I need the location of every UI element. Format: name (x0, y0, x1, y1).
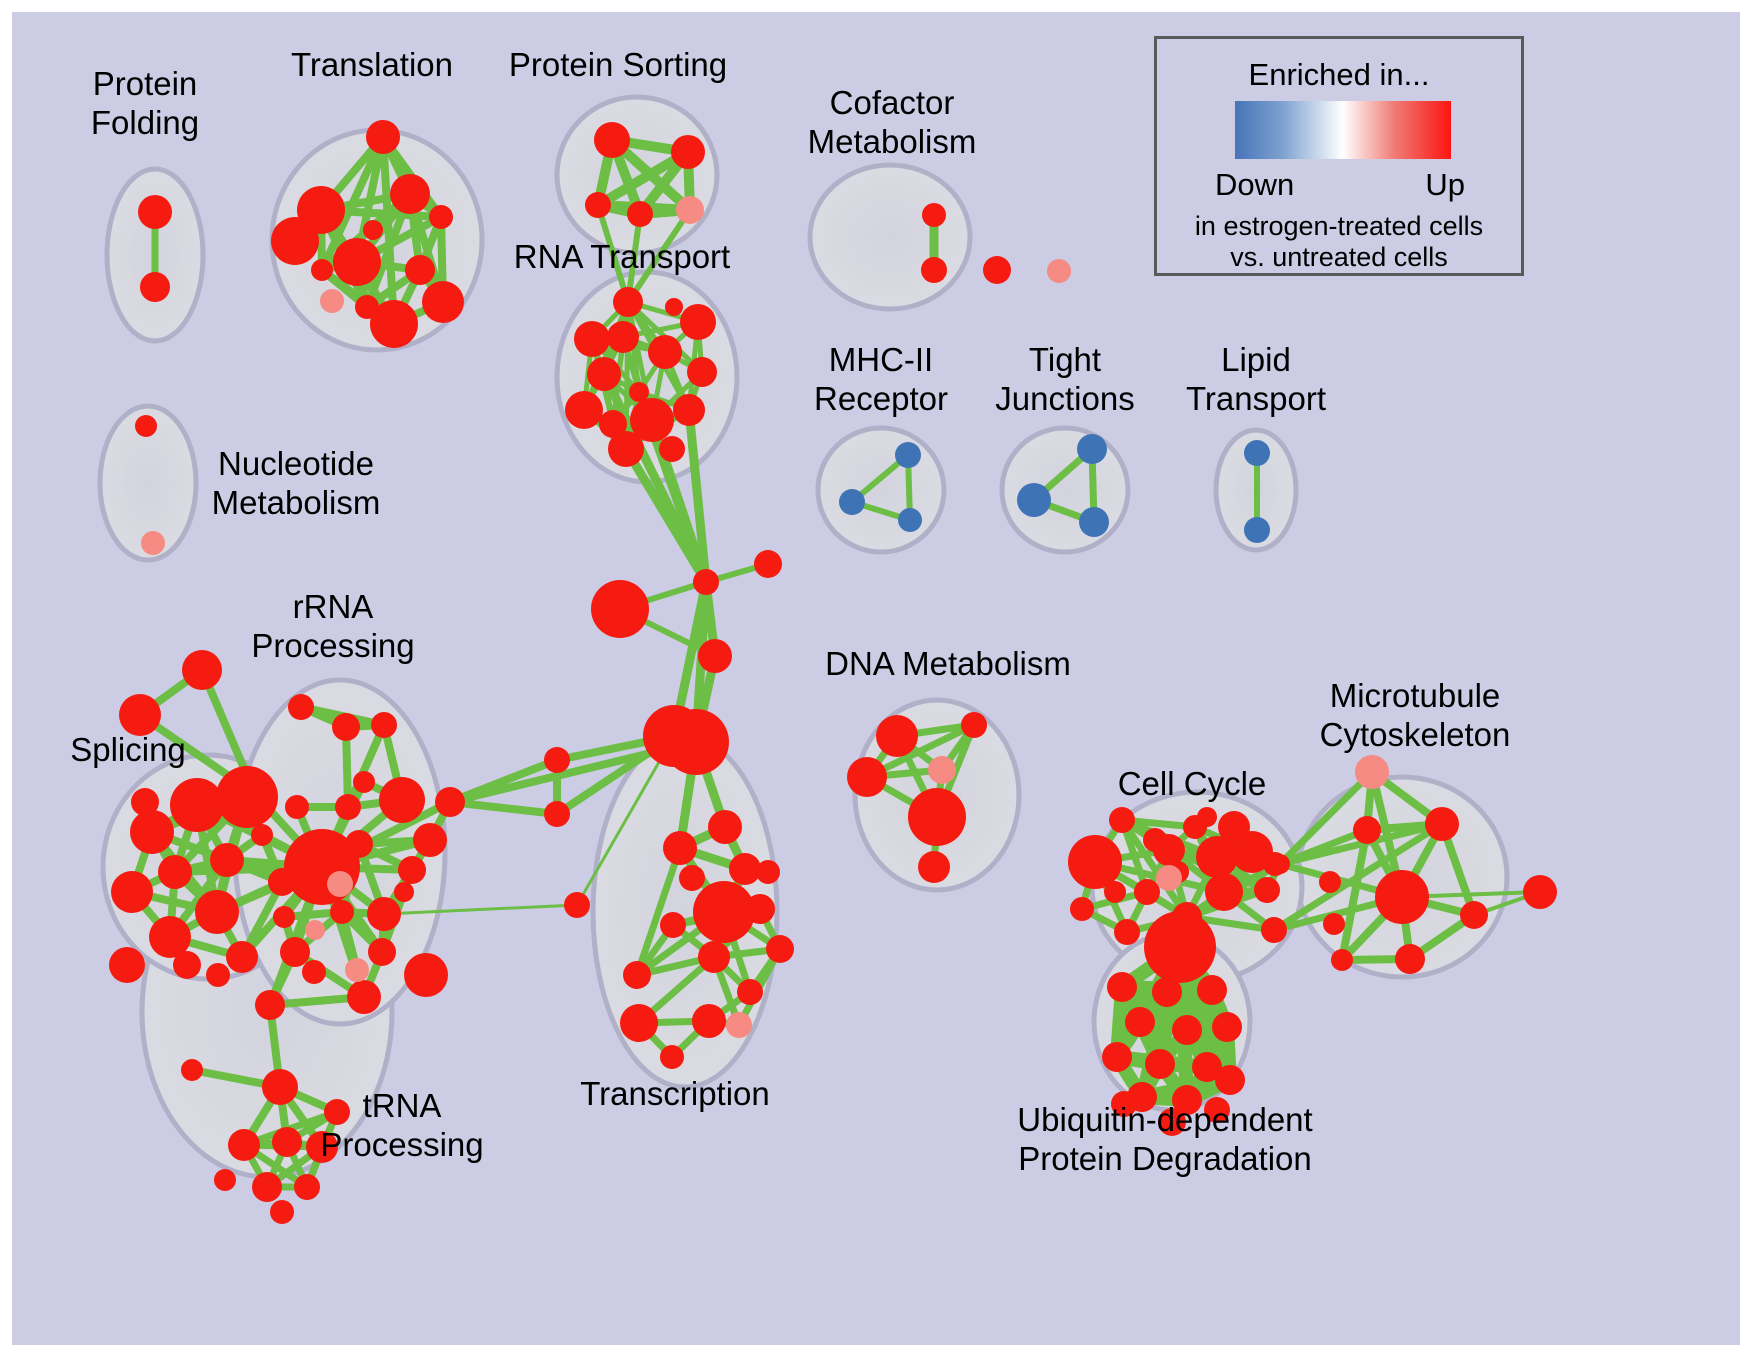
node (170, 778, 224, 832)
node (692, 1004, 726, 1038)
node (111, 871, 153, 913)
node (698, 639, 732, 673)
node (1134, 879, 1160, 905)
node (1197, 975, 1227, 1005)
legend-subtitle-line1: in estrogen-treated cells (1157, 211, 1521, 242)
node (285, 795, 309, 819)
node (687, 357, 717, 387)
node (368, 938, 396, 966)
node (1254, 877, 1280, 903)
node (627, 201, 653, 227)
node (1204, 1097, 1230, 1123)
node (839, 489, 865, 515)
node (404, 953, 448, 997)
node (320, 289, 344, 313)
node (607, 321, 639, 353)
node (1156, 865, 1182, 891)
node (1218, 811, 1250, 843)
node (367, 897, 401, 931)
node (1109, 807, 1135, 833)
node (1158, 1108, 1186, 1136)
node (130, 810, 174, 854)
node (1152, 977, 1182, 1007)
node (262, 1069, 298, 1105)
node (663, 709, 729, 775)
legend-title: Enriched in... (1157, 57, 1521, 93)
node (544, 747, 570, 773)
node (745, 894, 775, 924)
node (729, 853, 761, 885)
node (305, 920, 325, 940)
node (898, 508, 922, 532)
node (1017, 483, 1051, 517)
node (1395, 944, 1425, 974)
node (226, 941, 258, 973)
node (895, 442, 921, 468)
node (270, 1200, 294, 1224)
node (574, 321, 610, 357)
node (371, 712, 397, 738)
node (271, 217, 319, 265)
node (333, 238, 381, 286)
node (119, 694, 161, 736)
network-canvas: Protein Folding Translation Protein Sort… (12, 12, 1740, 1345)
node (332, 713, 360, 741)
node (921, 257, 947, 283)
node (1270, 854, 1290, 874)
node (138, 195, 172, 229)
node (363, 220, 383, 240)
node (1197, 807, 1217, 827)
node (370, 300, 418, 348)
node (302, 960, 326, 984)
legend-color-gradient-bar (1235, 101, 1451, 159)
node (324, 1099, 350, 1125)
node (1244, 517, 1270, 543)
node (961, 712, 987, 738)
node (620, 1004, 658, 1042)
node (345, 958, 369, 982)
node (680, 304, 716, 340)
node (665, 298, 683, 316)
node (394, 882, 414, 902)
node (1077, 434, 1107, 464)
node (608, 431, 644, 467)
node (1319, 871, 1341, 893)
node (181, 1059, 203, 1081)
node (1144, 911, 1216, 983)
node (335, 794, 361, 820)
node (660, 912, 686, 938)
node (756, 860, 780, 884)
node (210, 843, 244, 877)
node (214, 1169, 236, 1191)
node (294, 1174, 320, 1200)
node (587, 357, 621, 391)
node (544, 801, 570, 827)
node (347, 980, 381, 1014)
node (623, 961, 651, 989)
node (1102, 1042, 1132, 1072)
node (1212, 1012, 1242, 1042)
node (252, 1172, 282, 1202)
node (272, 1127, 302, 1157)
node (1070, 897, 1094, 921)
node (141, 531, 165, 555)
node (1104, 881, 1126, 903)
node (671, 135, 705, 169)
node (594, 122, 630, 158)
node (1172, 1015, 1202, 1045)
node (1355, 755, 1389, 789)
node (109, 947, 145, 983)
node (983, 256, 1011, 284)
node (330, 900, 354, 924)
node (195, 890, 239, 934)
node (366, 120, 400, 154)
node (182, 650, 222, 690)
node (1047, 259, 1071, 283)
node (345, 830, 373, 858)
node (228, 1129, 260, 1161)
node (280, 937, 310, 967)
node (908, 788, 966, 846)
node (353, 771, 375, 793)
node (876, 715, 918, 757)
node (1145, 1049, 1175, 1079)
node (422, 281, 464, 323)
node (1111, 1091, 1137, 1117)
node (585, 192, 611, 218)
node (726, 1012, 752, 1038)
node (918, 851, 950, 883)
node (922, 203, 946, 227)
node (663, 831, 697, 865)
node (565, 391, 603, 429)
node (1068, 835, 1122, 889)
bubble-mhc-ii-receptor (818, 428, 944, 552)
node (693, 569, 719, 595)
node (435, 787, 465, 817)
legend-up-label: Up (1425, 167, 1465, 203)
node (398, 856, 426, 884)
node (737, 979, 763, 1005)
node (173, 951, 201, 979)
node (413, 823, 447, 857)
node (591, 580, 649, 638)
node (766, 935, 794, 963)
node (1425, 807, 1459, 841)
legend-subtitle-line2: vs. untreated cells (1157, 242, 1521, 273)
node (273, 906, 295, 928)
node (140, 272, 170, 302)
node (648, 335, 682, 369)
node (1353, 816, 1381, 844)
node (390, 174, 430, 214)
legend-down-label: Down (1215, 167, 1294, 203)
node (1114, 919, 1140, 945)
legend-panel: Enriched in... Down Up in estrogen-treat… (1154, 36, 1524, 276)
bubble-cofactor-metabolism (810, 165, 970, 309)
node (1460, 901, 1488, 929)
figure-root: Protein Folding Translation Protein Sort… (0, 0, 1750, 1360)
node (613, 287, 643, 317)
node (1125, 1007, 1155, 1037)
node (311, 259, 333, 281)
node (379, 777, 425, 823)
node (679, 865, 705, 891)
node (1375, 870, 1429, 924)
node (1143, 828, 1167, 852)
node (306, 1131, 338, 1163)
node (327, 871, 353, 897)
node (216, 766, 278, 828)
node (1331, 949, 1353, 971)
node (1523, 875, 1557, 909)
node (673, 394, 705, 426)
node (405, 255, 435, 285)
node (676, 196, 704, 224)
node (131, 788, 159, 816)
node (1079, 507, 1109, 537)
node (659, 436, 685, 462)
node (1323, 913, 1345, 935)
node (1261, 917, 1287, 943)
node (158, 855, 192, 889)
node (288, 694, 314, 720)
node (708, 810, 742, 844)
node (660, 1045, 684, 1069)
node (255, 990, 285, 1020)
node (1107, 972, 1137, 1002)
node (564, 892, 590, 918)
node (928, 756, 956, 784)
node (847, 757, 887, 797)
node (429, 205, 453, 229)
node (1215, 1065, 1245, 1095)
node (206, 963, 230, 987)
node (1205, 873, 1243, 911)
node (698, 941, 730, 973)
node (754, 550, 782, 578)
node (251, 824, 273, 846)
node (135, 415, 157, 437)
node (1244, 440, 1270, 466)
